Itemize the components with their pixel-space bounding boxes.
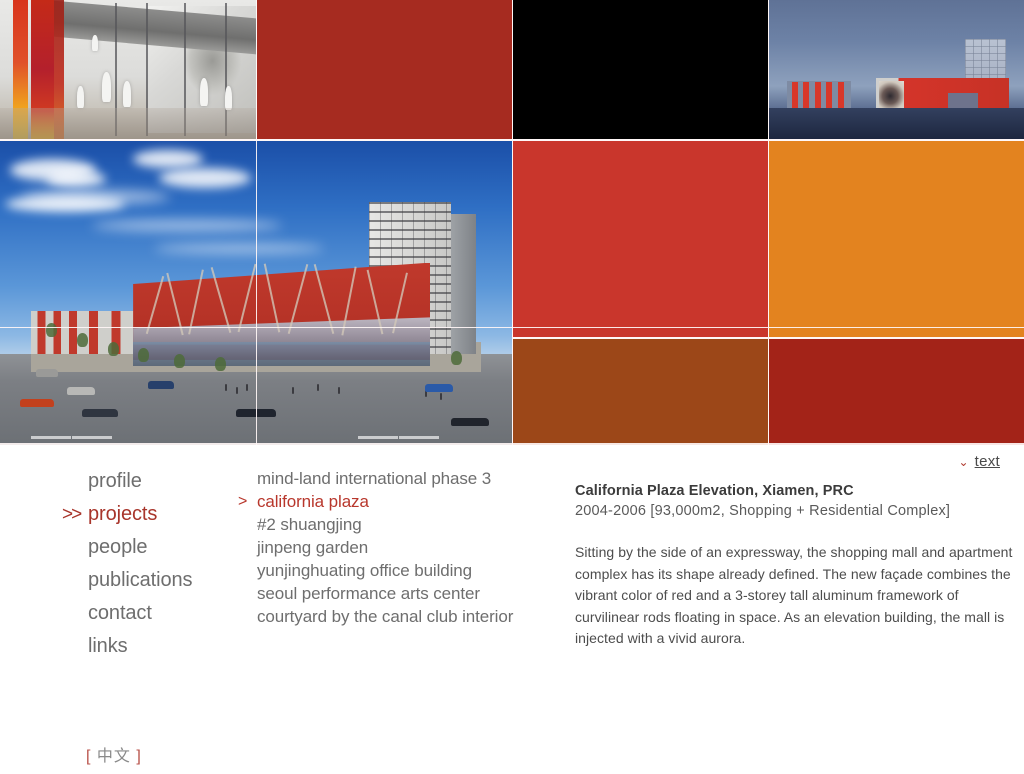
elevation-ground bbox=[769, 108, 1024, 139]
rendering-tower-side bbox=[451, 214, 477, 354]
active-marker: >> bbox=[62, 498, 80, 531]
page-root: ⌄ text profile >> projects people public… bbox=[0, 0, 1024, 774]
nav-item-contact[interactable]: contact bbox=[62, 597, 252, 630]
grid-line-vertical bbox=[256, 0, 257, 445]
content-area: ⌄ text profile >> projects people public… bbox=[0, 445, 1024, 774]
crosswalk-stripe bbox=[31, 436, 71, 439]
cloud bbox=[5, 196, 125, 212]
elevation-red-fin bbox=[826, 82, 832, 109]
grid-line-vertical bbox=[768, 0, 769, 445]
grid-line-horizontal bbox=[512, 337, 1024, 339]
project-item-yunjinghuating[interactable]: yunjinghuating office building bbox=[238, 559, 558, 582]
project-title: California Plaza Elevation, Xiamen, PRC bbox=[575, 481, 1015, 501]
language-toggle-chinese[interactable]: [ 中文 ] bbox=[86, 742, 142, 766]
project-item-jinpeng-garden[interactable]: jinpeng garden bbox=[238, 536, 558, 559]
project-body-text: Sitting by the side of an expressway, th… bbox=[575, 542, 1015, 650]
car bbox=[148, 381, 174, 389]
project-label: mind-land international phase 3 bbox=[238, 467, 491, 490]
project-item-canal-club-interior[interactable]: courtyard by the canal club interior bbox=[238, 605, 558, 628]
elevation-red-fin bbox=[838, 82, 844, 109]
black-color-block[interactable] bbox=[513, 0, 768, 139]
pedestrian bbox=[246, 384, 248, 391]
street-tree bbox=[46, 323, 57, 337]
interior-figure bbox=[200, 78, 208, 106]
elevation-left-block bbox=[787, 81, 851, 112]
nav-label: contact bbox=[62, 597, 152, 630]
street-tree bbox=[174, 354, 185, 368]
interior-figure bbox=[102, 72, 111, 102]
street-tree bbox=[451, 351, 462, 365]
nav-label: profile bbox=[62, 465, 142, 498]
elevation-red-fin bbox=[815, 82, 821, 109]
nav-item-publications[interactable]: publications bbox=[62, 564, 252, 597]
street-tree bbox=[215, 357, 226, 371]
project-item-seoul-arts-center[interactable]: seoul performance arts center bbox=[238, 582, 558, 605]
cirrus-cloud bbox=[92, 220, 282, 231]
elevation-red-fin bbox=[792, 82, 798, 109]
car bbox=[36, 369, 58, 377]
interior-rendering-cell[interactable] bbox=[0, 0, 256, 139]
chevron-down-icon: ⌄ bbox=[959, 456, 969, 468]
nav-label: links bbox=[62, 630, 128, 663]
car bbox=[20, 399, 54, 407]
car bbox=[451, 418, 489, 426]
street-tree bbox=[77, 333, 88, 347]
crosswalk-stripe bbox=[399, 436, 439, 439]
project-label: seoul performance arts center bbox=[238, 582, 480, 605]
grid-line-vertical bbox=[512, 0, 513, 445]
project-label: courtyard by the canal club interior bbox=[238, 605, 513, 628]
nav-label: publications bbox=[62, 564, 192, 597]
interior-figure bbox=[77, 86, 84, 108]
pedestrian bbox=[338, 387, 340, 394]
interior-floor-reflection bbox=[0, 108, 256, 139]
pedestrian bbox=[236, 387, 238, 394]
language-label: 中文 bbox=[97, 748, 131, 765]
project-item-california-plaza[interactable]: > california plaza bbox=[238, 490, 558, 513]
project-label: #2 shuangjing bbox=[238, 513, 362, 536]
grid-line-horizontal bbox=[0, 139, 1024, 141]
nav-label: people bbox=[62, 531, 147, 564]
project-list: mind-land international phase 3 > califo… bbox=[238, 467, 558, 628]
elevation-facade-graphic bbox=[879, 81, 905, 112]
brown-color-block[interactable] bbox=[513, 339, 768, 445]
pedestrian bbox=[225, 384, 227, 391]
bracket-open: [ bbox=[86, 748, 91, 765]
text-link-label[interactable]: text bbox=[975, 453, 1000, 470]
red-color-block-mid[interactable] bbox=[513, 141, 768, 337]
project-item-shuangjing[interactable]: #2 shuangjing bbox=[238, 513, 558, 536]
grid-line-horizontal bbox=[0, 327, 1024, 328]
text-view-link[interactable]: ⌄ text bbox=[959, 453, 1000, 470]
nav-item-links[interactable]: links bbox=[62, 630, 252, 663]
project-description: California Plaza Elevation, Xiamen, PRC … bbox=[575, 481, 1015, 650]
car bbox=[67, 387, 95, 395]
street-tree bbox=[138, 348, 149, 362]
car bbox=[82, 409, 118, 417]
project-label: yunjinghuating office building bbox=[238, 559, 472, 582]
street-tree bbox=[108, 342, 119, 356]
project-label: california plaza bbox=[238, 490, 369, 513]
interior-figure bbox=[123, 81, 131, 107]
crosswalk-stripe bbox=[358, 436, 398, 439]
nav-item-people[interactable]: people bbox=[62, 531, 252, 564]
orange-color-block[interactable] bbox=[769, 141, 1024, 337]
crosswalk-stripe bbox=[72, 436, 112, 439]
nav-item-projects[interactable]: >> projects bbox=[62, 498, 252, 531]
red-color-block-top[interactable] bbox=[257, 0, 512, 139]
elevation-rendering-cell[interactable] bbox=[769, 0, 1024, 139]
active-marker: > bbox=[238, 490, 247, 513]
project-label: jinpeng garden bbox=[238, 536, 368, 559]
project-item-mind-land[interactable]: mind-land international phase 3 bbox=[238, 467, 558, 490]
nav-item-profile[interactable]: profile bbox=[62, 465, 252, 498]
pedestrian bbox=[292, 387, 294, 394]
main-navigation: profile >> projects people publications … bbox=[62, 465, 252, 663]
interior-figure bbox=[225, 86, 232, 110]
dark-red-color-block[interactable] bbox=[769, 339, 1024, 445]
image-mosaic-band bbox=[0, 0, 1024, 445]
car bbox=[425, 384, 453, 392]
project-subtitle: 2004-2006 [93,000m2, Shopping + Resident… bbox=[575, 501, 1015, 522]
interior-figure bbox=[92, 35, 98, 51]
elevation-red-fin bbox=[803, 82, 809, 109]
bracket-close: ] bbox=[136, 748, 141, 765]
